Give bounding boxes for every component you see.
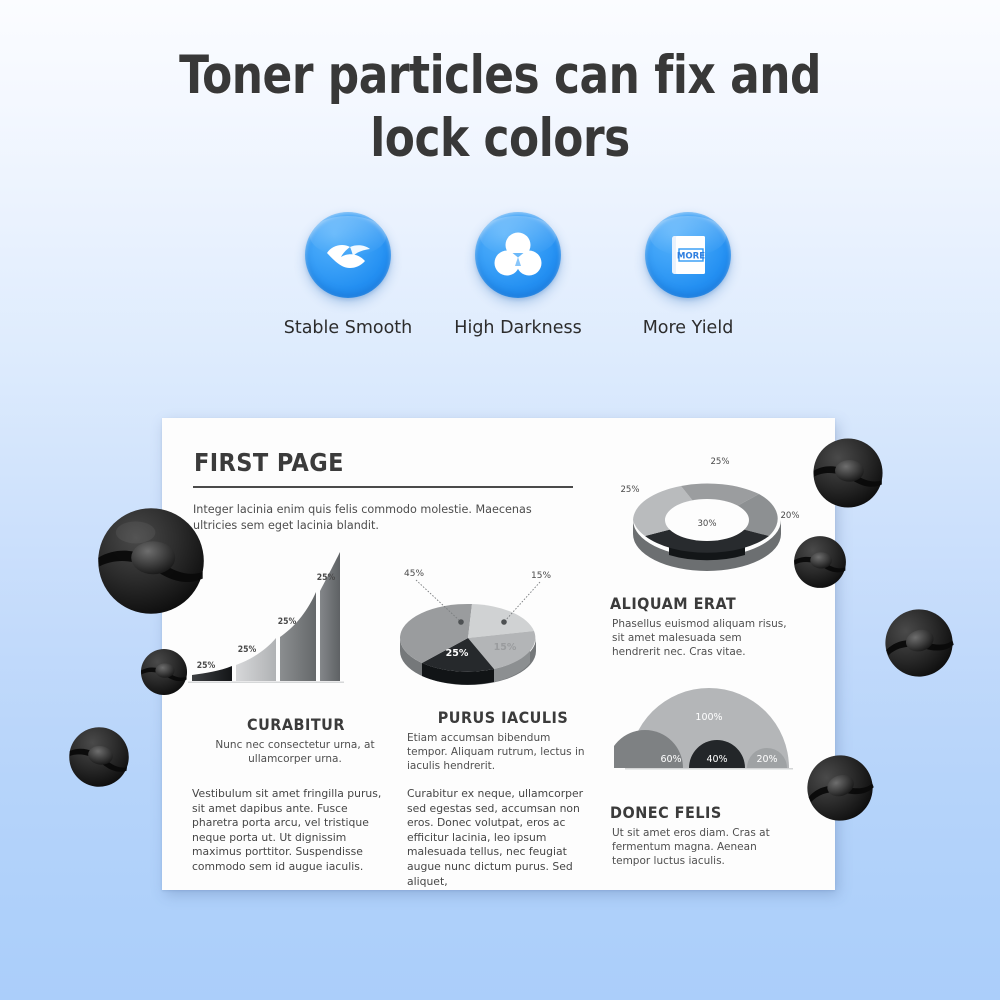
section-heading-donec-felis: DONEC FELIS <box>610 803 810 822</box>
bar-label-4: 25% <box>317 573 336 583</box>
toner-particle <box>64 722 134 792</box>
pie-callout-dot-2 <box>501 619 507 625</box>
svg-text:MORE: MORE <box>677 251 705 261</box>
pie-inner-label-15: 15% <box>494 642 517 653</box>
feature-list: Stable Smooth High Darkness <box>268 212 768 357</box>
pie-callout-label-15: 15% <box>531 571 551 581</box>
toner-particle <box>876 600 963 687</box>
feature-label-more-yield: More Yield <box>608 318 768 338</box>
page-title-line-2: lock colors <box>40 107 960 170</box>
donut-label-right: 20% <box>780 511 799 521</box>
feature-badge-more-yield: MORE <box>645 212 731 298</box>
section-blurb-donec-felis: Ut sit amet eros diam. Cras at fermentum… <box>612 826 797 869</box>
section-blurb-purus-iaculis: Etiam accumsan bibendum tempor. Aliquam … <box>407 731 592 774</box>
feature-label-stable-smooth: Stable Smooth <box>268 318 428 338</box>
gauge-label-40: 40% <box>706 754 727 765</box>
page-title-line-1: Toner particles can fix and <box>40 44 960 107</box>
document-intro: Integer lacinia enim quis felis commodo … <box>193 502 578 533</box>
color-circles-icon <box>475 212 561 298</box>
distribution-pie-chart: 25% 15% 45% 15% <box>390 560 575 695</box>
donut-label-left: 25% <box>620 485 639 495</box>
smooth-wave-icon <box>305 212 391 298</box>
section-heading-aliquam-erat: ALIQUAM ERAT <box>610 594 810 613</box>
bar-label-1: 25% <box>197 661 216 671</box>
pie-inner-label-25: 25% <box>446 648 469 659</box>
section-blurb-curabitur: Nunc nec consectetur urna, at ullamcorpe… <box>200 738 390 766</box>
donut-label-top: 25% <box>710 457 729 467</box>
section-body-purus-iaculis: Curabitur ex neque, ullamcorper sed eges… <box>407 787 603 889</box>
gauge-label-20: 20% <box>756 754 777 765</box>
document-card[interactable]: FIRST PAGE Integer lacinia enim quis fel… <box>162 418 835 890</box>
feature-item-stable-smooth[interactable]: Stable Smooth <box>268 212 428 338</box>
feature-item-high-darkness[interactable]: High Darkness <box>438 212 598 338</box>
more-book-icon: MORE <box>645 212 731 298</box>
toner-particle <box>96 506 206 616</box>
ring-donut-chart: 25% 25% 20% 30% <box>612 448 802 578</box>
feature-label-high-darkness: High Darkness <box>438 318 598 338</box>
donut-label-bottom: 30% <box>697 519 716 529</box>
bar-label-3: 25% <box>278 617 297 627</box>
feature-item-more-yield[interactable]: MORE More Yield <box>608 212 768 338</box>
pie-callout-label-45: 45% <box>404 569 424 579</box>
toner-particle <box>812 437 884 509</box>
section-heading-purus-iaculis: PURUS IACULIS <box>403 708 603 727</box>
gauge-label-100: 100% <box>695 712 722 723</box>
section-body-curabitur: Vestibulum sit amet fringilla purus, sit… <box>192 787 388 875</box>
growth-bar-chart: 25% 25% 25% 25% <box>184 550 389 695</box>
document-title: FIRST PAGE <box>194 448 344 477</box>
feature-badge-stable-smooth <box>305 212 391 298</box>
toner-particle <box>793 535 847 589</box>
toner-particle <box>140 648 188 696</box>
page-title: Toner particles can fix and lock colors <box>0 44 1000 170</box>
pie-callout-dot-1 <box>458 619 464 625</box>
bar-label-2: 25% <box>238 645 257 655</box>
section-heading-curabitur: CURABITUR <box>196 715 396 734</box>
gauge-label-60: 60% <box>660 754 681 765</box>
title-divider <box>193 486 573 488</box>
feature-badge-high-darkness <box>475 212 561 298</box>
nested-gauge-chart: 100% 60% 40% 20% <box>614 676 804 786</box>
section-blurb-aliquam-erat: Phasellus euismod aliquam risus, sit ame… <box>612 617 792 660</box>
